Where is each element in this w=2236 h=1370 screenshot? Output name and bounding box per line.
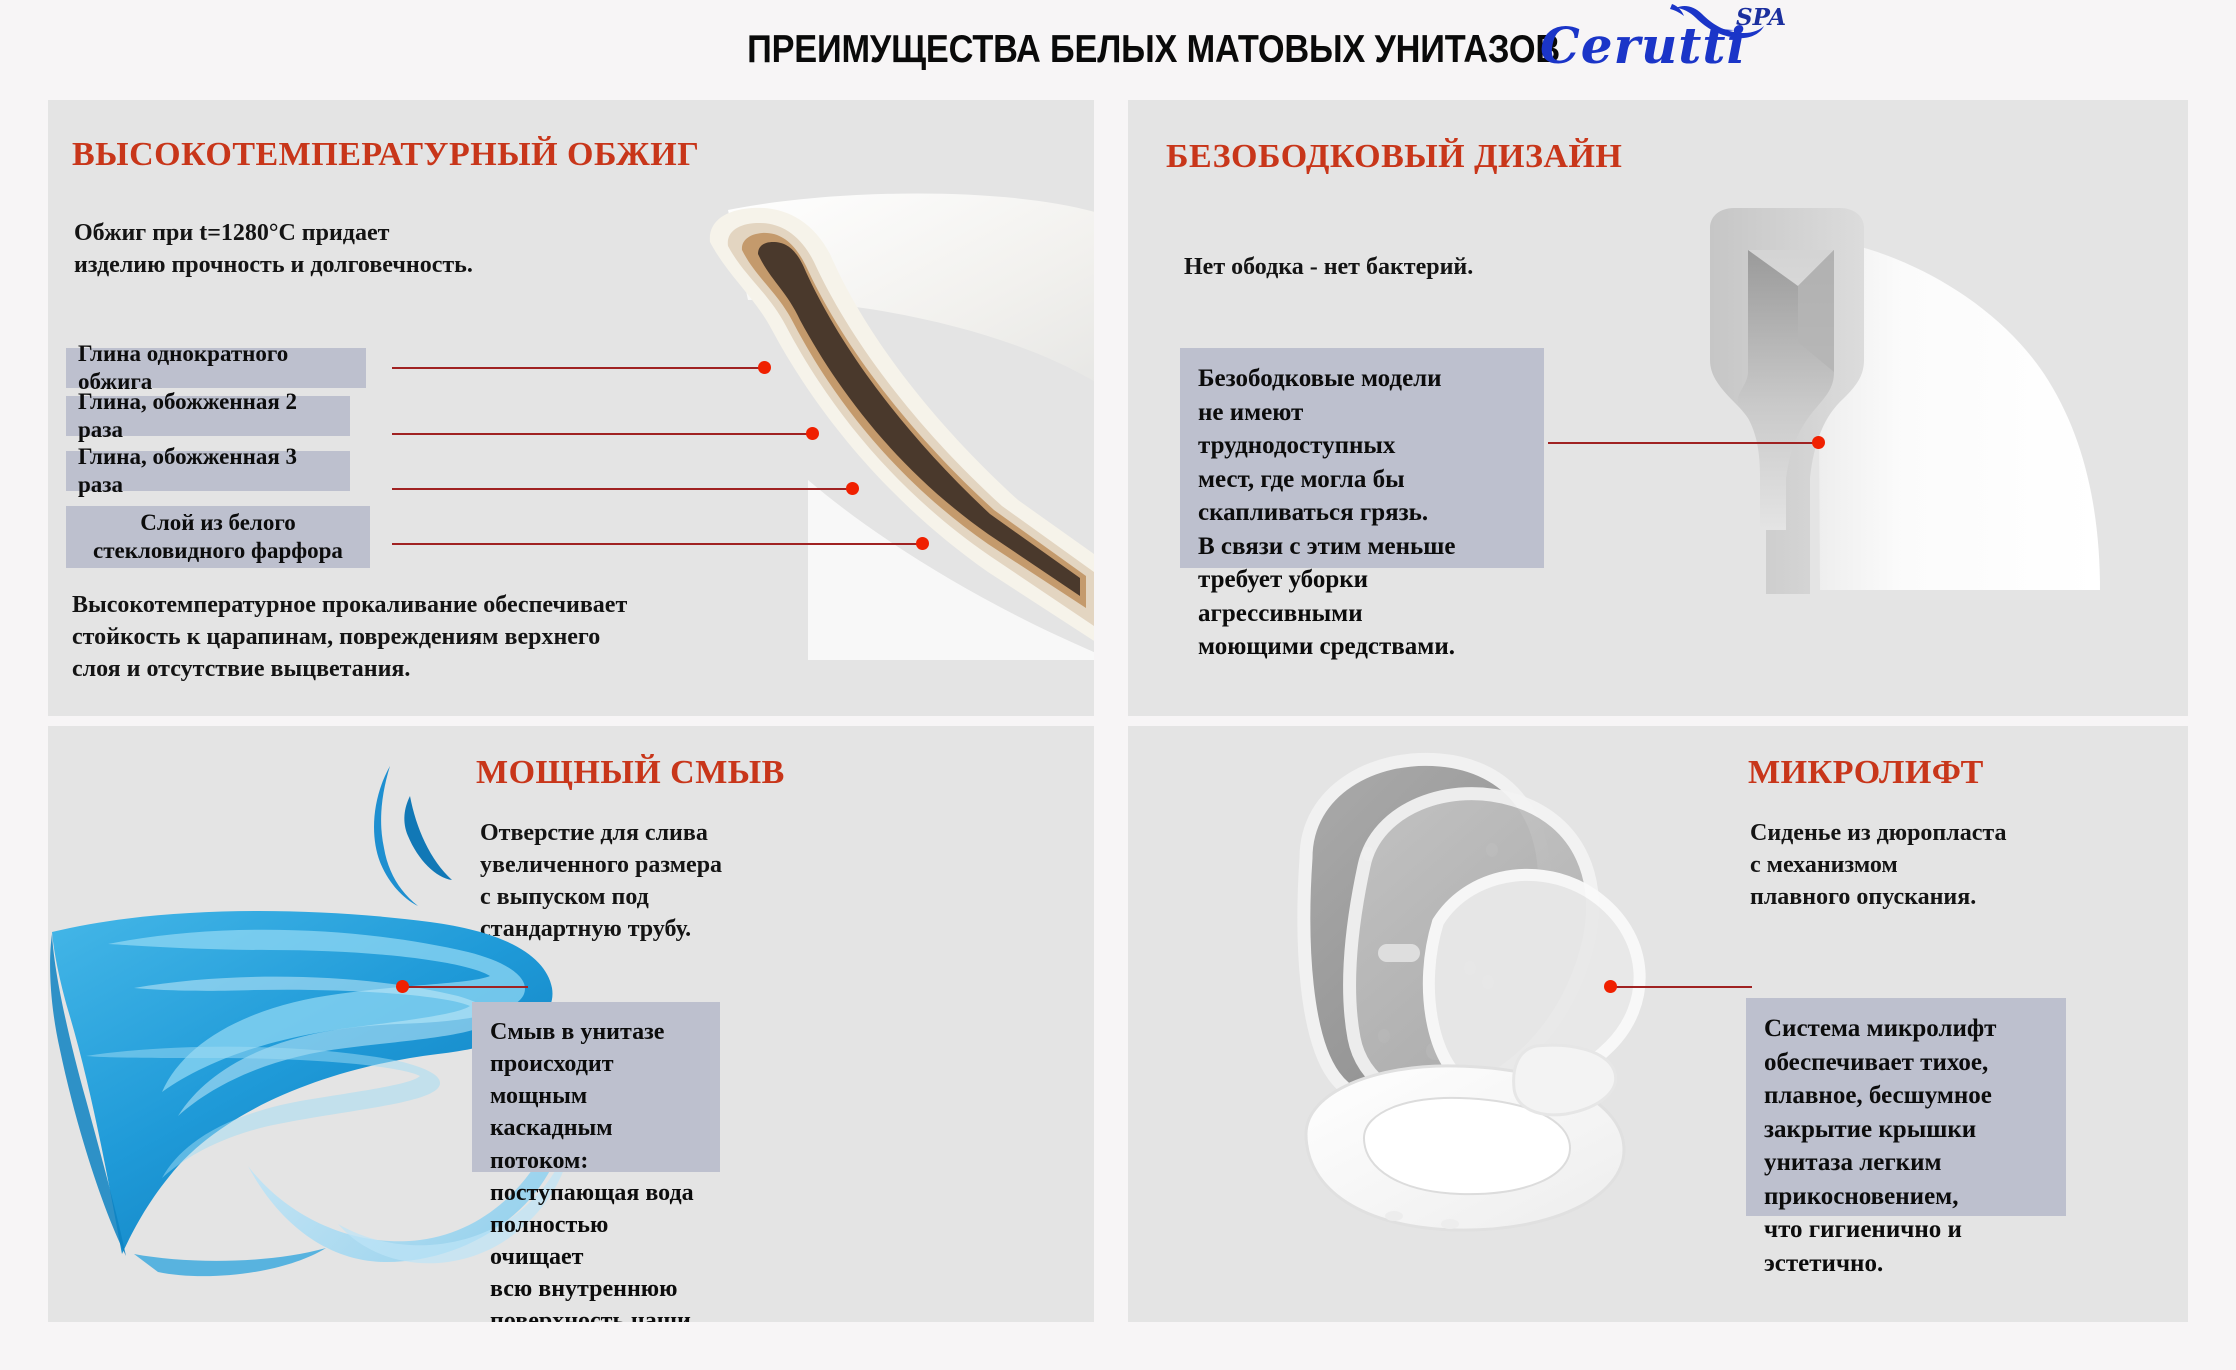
leader-dot-layer-4 bbox=[916, 537, 929, 550]
rimless-bowl-cutaway-art bbox=[1648, 190, 2188, 630]
leader-dot-softclose bbox=[1604, 980, 1617, 993]
layer-label-4: Слой из белого стекловидного фарфора bbox=[66, 506, 370, 568]
layer-label-1: Глина однократного обжига bbox=[66, 348, 366, 388]
logo-wordmark: Cerutti bbox=[1540, 16, 1747, 75]
firing-intro-text: Обжиг при t=1280°С придает изделию прочн… bbox=[74, 218, 634, 282]
panel-powerful-flush: МОЩНЫЙ СМЫВ Отверстие для слива увеличен… bbox=[48, 726, 1094, 1322]
page-title: ПРЕИМУЩЕСТВА БЕЛЫХ МАТОВЫХ УНИТАЗОВ bbox=[187, 28, 1560, 72]
leader-dot-flush bbox=[396, 980, 409, 993]
rimless-intro-text: Нет ободка - нет бактерий. bbox=[1184, 252, 1684, 284]
leader-line-flush bbox=[408, 986, 528, 988]
layer-label-3: Глина, обожженная 3 раза bbox=[66, 451, 350, 491]
leader-dot-layer-3 bbox=[846, 482, 859, 495]
leader-line-layer-1 bbox=[392, 367, 764, 369]
softclose-intro-text: Сиденье из дюропласта с механизмом плавн… bbox=[1750, 818, 2150, 914]
leader-line-rimless bbox=[1548, 442, 1818, 444]
panel-high-temperature-firing: ВЫСОКОТЕМПЕРАТУРНЫЙ ОБЖИГ Обжиг при t=12… bbox=[48, 100, 1094, 716]
leader-dot-layer-1 bbox=[758, 361, 771, 374]
softclose-callout: Система микролифт обеспечивает тихое, пл… bbox=[1746, 998, 2066, 1216]
panel-rimless-design: БЕЗОБОДКОВЫЙ ДИЗАЙН Нет ободка - нет бак… bbox=[1128, 100, 2188, 716]
ceramic-cross-section-art bbox=[688, 180, 1094, 660]
panel-soft-close-microlift: МИКРОЛИФТ Сиденье из дюропласта с механи… bbox=[1128, 726, 2188, 1322]
page-header: ПРЕИМУЩЕСТВА БЕЛЫХ МАТОВЫХ УНИТАЗОВ SPA … bbox=[0, 0, 2236, 98]
panel-heading-firing: ВЫСОКОТЕМПЕРАТУРНЫЙ ОБЖИГ bbox=[72, 136, 699, 174]
panel-heading-softclose: МИКРОЛИФТ bbox=[1748, 754, 1984, 792]
rimless-callout: Безободковые модели не имеют труднодосту… bbox=[1180, 348, 1544, 568]
layer-label-2: Глина, обожженная 2 раза bbox=[66, 396, 350, 436]
leader-dot-rimless bbox=[1812, 436, 1825, 449]
toilet-seat-softclose-art bbox=[1188, 746, 1748, 1306]
cerutti-logo: SPA Cerutti bbox=[1540, 6, 1830, 78]
flush-callout: Смыв в унитазе происходит мощным каскадн… bbox=[472, 1002, 720, 1172]
leader-line-softclose bbox=[1616, 986, 1752, 988]
leader-line-layer-2 bbox=[392, 433, 812, 435]
leader-line-layer-4 bbox=[392, 543, 922, 545]
leader-dot-layer-2 bbox=[806, 427, 819, 440]
firing-footer-text: Высокотемпературное прокаливание обеспеч… bbox=[72, 590, 772, 686]
panel-heading-rimless: БЕЗОБОДКОВЫЙ ДИЗАЙН bbox=[1166, 138, 1622, 176]
leader-line-layer-3 bbox=[392, 488, 852, 490]
